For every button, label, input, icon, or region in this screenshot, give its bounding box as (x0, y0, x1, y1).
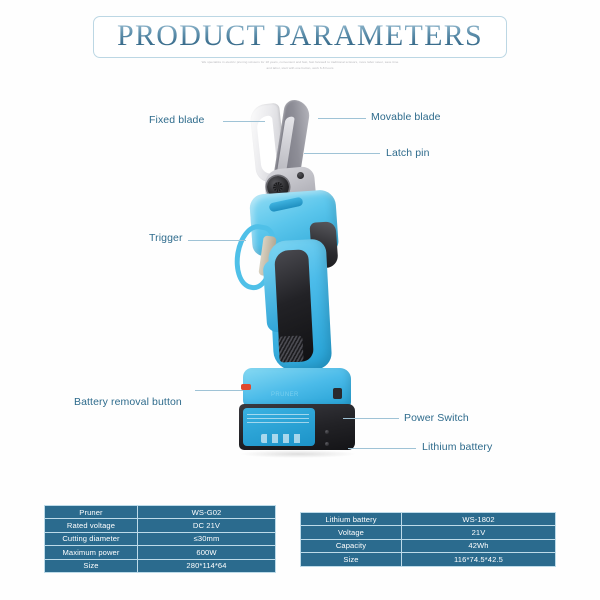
product-drop-shadow (239, 450, 357, 458)
callout-leader-fixed-blade (223, 121, 265, 122)
battery-certification-icons (261, 434, 305, 443)
table-cell-value: 21V (402, 526, 556, 539)
table-cell-label: Maximum power (45, 546, 138, 559)
table-cell-value: 116*74.5*42.5 (402, 553, 556, 566)
table-cell-value: WS-G02 (138, 506, 276, 519)
table-cell-label: Capacity (301, 539, 402, 552)
table-row: Rated voltageDC 21V (45, 519, 276, 532)
table-row: Size280*114*64 (45, 559, 276, 572)
callout-label-fixed-blade: Fixed blade (149, 114, 204, 126)
battery-screw-icon (325, 442, 329, 446)
table-cell-label: Pruner (45, 506, 138, 519)
battery-label-text-lines (247, 414, 309, 426)
callout-label-battery-removal-button: Battery removal button (74, 396, 182, 408)
title-banner: PRODUCT PARAMETERS (93, 16, 507, 58)
page-title: PRODUCT PARAMETERS (117, 21, 483, 53)
power-switch-shape (333, 388, 342, 399)
product-image-electric-pruner: PRUNER (225, 100, 385, 470)
pruner-spec-table-body: PrunerWS-G02Rated voltageDC 21VCutting d… (45, 506, 276, 573)
table-cell-value: 42Wh (402, 539, 556, 552)
table-row: Lithium batteryWS-1802 (301, 513, 556, 526)
table-cell-label: Lithium battery (301, 513, 402, 526)
callout-leader-movable-blade (318, 118, 366, 119)
callout-leader-latch-pin (304, 153, 380, 154)
table-cell-value: WS-1802 (402, 513, 556, 526)
table-row: Capacity42Wh (301, 539, 556, 552)
battery-spec-table: Lithium batteryWS-1802Voltage21VCapacity… (300, 512, 556, 567)
table-row: Maximum power600W (45, 546, 276, 559)
callout-leader-trigger (188, 240, 246, 241)
subtitle-line-2: and labor, start with one button, work 6… (150, 65, 450, 71)
battery-spec-table-body: Lithium batteryWS-1802Voltage21VCapacity… (301, 513, 556, 567)
table-cell-value: 600W (138, 546, 276, 559)
table-cell-label: Voltage (301, 526, 402, 539)
table-row: Size116*74.5*42.5 (301, 553, 556, 566)
callout-label-power-switch: Power Switch (404, 412, 469, 424)
callout-leader-power-switch (343, 418, 399, 419)
callout-label-lithium-battery: Lithium battery (422, 441, 492, 453)
page-subtitle: We specialize in electric pruning scisso… (150, 59, 450, 71)
vent-grille-shape (278, 335, 303, 362)
table-cell-label: Rated voltage (45, 519, 138, 532)
table-cell-label: Size (45, 559, 138, 572)
table-cell-value: ≤30mm (138, 532, 276, 545)
table-cell-value: 280*114*64 (138, 559, 276, 572)
pruner-spec-table: PrunerWS-G02Rated voltageDC 21VCutting d… (44, 505, 276, 573)
table-cell-label: Size (301, 553, 402, 566)
callout-leader-lithium-battery (348, 448, 416, 449)
table-row: Cutting diameter≤30mm (45, 532, 276, 545)
callout-label-movable-blade: Movable blade (371, 111, 441, 123)
infographic-page: PRODUCT PARAMETERS We specialize in elec… (0, 0, 600, 600)
table-cell-value: DC 21V (138, 519, 276, 532)
battery-screw-icon (325, 430, 329, 434)
callout-label-trigger: Trigger (149, 232, 183, 244)
callout-leader-battery-removal-button (195, 390, 243, 391)
table-row: PrunerWS-G02 (45, 506, 276, 519)
callout-label-latch-pin: Latch pin (386, 147, 430, 159)
table-row: Voltage21V (301, 526, 556, 539)
table-cell-label: Cutting diameter (45, 532, 138, 545)
battery-brand-text: PRUNER (271, 392, 299, 398)
latch-pin-shape (297, 172, 304, 179)
